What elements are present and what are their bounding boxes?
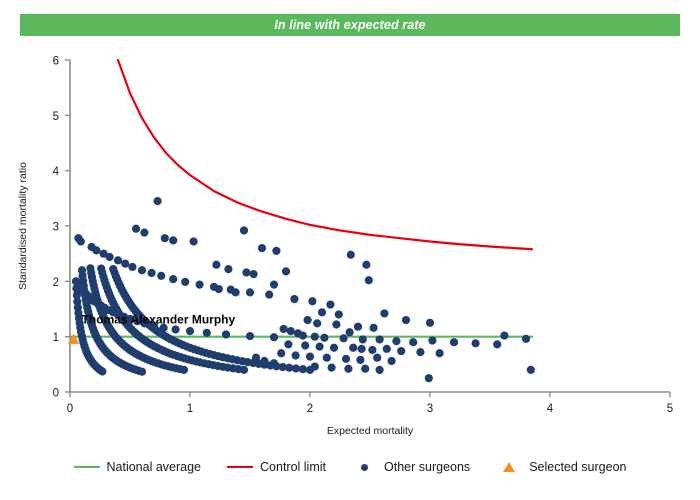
data-point <box>180 366 188 374</box>
data-point <box>304 316 312 324</box>
data-point <box>349 344 357 352</box>
y-axis-tick-label: 5 <box>53 111 59 123</box>
data-point <box>402 316 410 324</box>
data-point <box>270 281 278 289</box>
data-point <box>196 281 204 289</box>
data-point <box>287 327 295 335</box>
data-point <box>260 357 268 365</box>
data-point <box>299 331 307 339</box>
data-point <box>383 345 391 353</box>
data-point <box>527 366 535 374</box>
data-point <box>114 256 122 264</box>
data-point <box>344 365 352 373</box>
data-point <box>154 197 162 205</box>
data-point <box>292 351 300 359</box>
data-point <box>148 269 156 277</box>
data-point <box>318 308 326 316</box>
x-axis-tick-label: 1 <box>187 403 193 415</box>
data-point <box>326 300 334 308</box>
data-point <box>252 354 260 362</box>
selected-surgeon-label: Thomas Alexander Murphy <box>82 312 236 326</box>
axes-layer: 0123456012345Expected mortalityStandardi… <box>17 56 673 438</box>
data-point <box>240 226 248 234</box>
legend-other-surgeons[interactable]: Other surgeons <box>352 460 470 474</box>
data-point <box>358 345 366 353</box>
data-point <box>335 310 343 318</box>
data-point <box>306 352 314 360</box>
y-axis-tick-label: 1 <box>53 332 59 344</box>
x-axis-tick-label: 2 <box>307 403 313 415</box>
data-point <box>450 338 458 346</box>
control-limit-curve <box>118 60 532 249</box>
data-point <box>128 263 136 271</box>
x-axis-tick-label: 4 <box>547 403 554 415</box>
data-point <box>368 346 376 354</box>
data-point <box>365 276 373 284</box>
data-point <box>222 330 230 338</box>
data-point <box>246 288 254 296</box>
data-point <box>522 335 530 343</box>
data-point <box>224 265 232 273</box>
data-point <box>320 334 328 342</box>
data-point <box>392 337 400 345</box>
data-point <box>313 319 321 327</box>
chart-legend: National averageControl limitOther surge… <box>0 456 700 478</box>
legend-dot-swatch <box>361 464 368 471</box>
data-point <box>362 261 370 269</box>
legend-triangle-swatch <box>503 462 515 472</box>
data-point <box>284 340 292 348</box>
series-layer <box>68 60 535 382</box>
data-point <box>299 365 307 373</box>
legend-national-average[interactable]: National average <box>74 460 202 474</box>
data-point <box>380 309 388 317</box>
legend-line-swatch <box>74 466 100 468</box>
data-point <box>77 237 85 245</box>
data-point <box>425 374 433 382</box>
annotation-layer: Thomas Alexander Murphy <box>82 312 236 326</box>
data-point <box>242 268 250 276</box>
x-axis-title: Expected mortality <box>327 425 414 437</box>
funnel-plot-svg: 0123456012345Expected mortalityStandardi… <box>0 0 700 500</box>
data-point <box>376 366 384 374</box>
data-point <box>340 334 348 342</box>
data-point <box>186 327 194 335</box>
data-point <box>270 333 278 341</box>
data-point <box>426 319 434 327</box>
legend-line-swatch <box>227 466 253 468</box>
data-point <box>169 236 177 244</box>
legend-item-label: National average <box>107 460 202 474</box>
data-point <box>373 354 381 362</box>
y-axis-tick-label: 4 <box>53 166 60 178</box>
data-point <box>328 364 336 372</box>
data-point <box>138 266 146 274</box>
funnel-plot-page: In line with expected rate 0123456012345… <box>0 0 700 500</box>
data-point <box>181 278 189 286</box>
data-point <box>356 356 364 364</box>
data-point <box>265 291 273 299</box>
data-point <box>270 359 278 367</box>
data-point <box>332 320 340 328</box>
data-point <box>376 335 384 343</box>
data-point <box>280 325 288 333</box>
y-axis-tick-label: 6 <box>53 56 59 68</box>
data-point <box>493 340 501 348</box>
data-point <box>121 260 129 268</box>
data-point <box>140 229 148 237</box>
data-point <box>323 354 331 362</box>
legend-item-label: Control limit <box>260 460 326 474</box>
y-axis-tick-label: 3 <box>53 222 59 234</box>
data-point <box>409 338 417 346</box>
data-point <box>361 365 369 373</box>
data-point <box>290 295 298 303</box>
y-axis-tick-label: 0 <box>53 388 59 400</box>
data-point <box>347 251 355 259</box>
data-point <box>246 332 254 340</box>
data-point <box>215 285 223 293</box>
data-point <box>359 335 367 343</box>
data-point <box>98 367 106 375</box>
x-axis-tick-label: 0 <box>67 403 73 415</box>
data-point <box>282 267 290 275</box>
data-point <box>370 324 378 332</box>
x-axis-tick-label: 5 <box>667 403 673 415</box>
data-point <box>277 349 285 357</box>
data-point <box>132 225 140 233</box>
data-point <box>212 261 220 269</box>
data-point <box>190 237 198 245</box>
legend-control-limit[interactable]: Control limit <box>227 460 326 474</box>
data-point <box>157 272 165 280</box>
legend-item-label: Other surgeons <box>384 460 470 474</box>
data-point <box>272 247 280 255</box>
data-point <box>172 325 180 333</box>
data-point <box>311 333 319 341</box>
data-point <box>301 341 309 349</box>
data-point <box>316 343 324 351</box>
legend-selected-surgeon[interactable]: Selected surgeon <box>496 460 626 474</box>
data-point <box>240 366 248 374</box>
legend-item-label: Selected surgeon <box>529 460 626 474</box>
data-point <box>203 329 211 337</box>
data-point <box>169 275 177 283</box>
data-point <box>472 339 480 347</box>
data-point <box>500 331 508 339</box>
data-point <box>397 347 405 355</box>
data-point <box>258 244 266 252</box>
data-point <box>342 355 350 363</box>
x-axis-tick-label: 3 <box>427 403 433 415</box>
data-point <box>250 270 258 278</box>
data-point <box>161 234 169 242</box>
data-point <box>416 348 424 356</box>
data-point <box>346 328 354 336</box>
y-axis-tick-label: 2 <box>53 277 59 289</box>
y-axis-title: Standardised mortality ratio <box>17 162 29 290</box>
data-point <box>354 323 362 331</box>
chart-container: 0123456012345Expected mortalityStandardi… <box>0 0 700 500</box>
data-point <box>138 368 146 376</box>
data-point <box>106 253 114 261</box>
data-point <box>436 349 444 357</box>
data-point <box>428 336 436 344</box>
data-point <box>388 357 396 365</box>
data-point <box>92 246 100 254</box>
data-point <box>308 297 316 305</box>
data-point <box>330 344 338 352</box>
data-point <box>232 288 240 296</box>
data-point <box>311 362 319 370</box>
